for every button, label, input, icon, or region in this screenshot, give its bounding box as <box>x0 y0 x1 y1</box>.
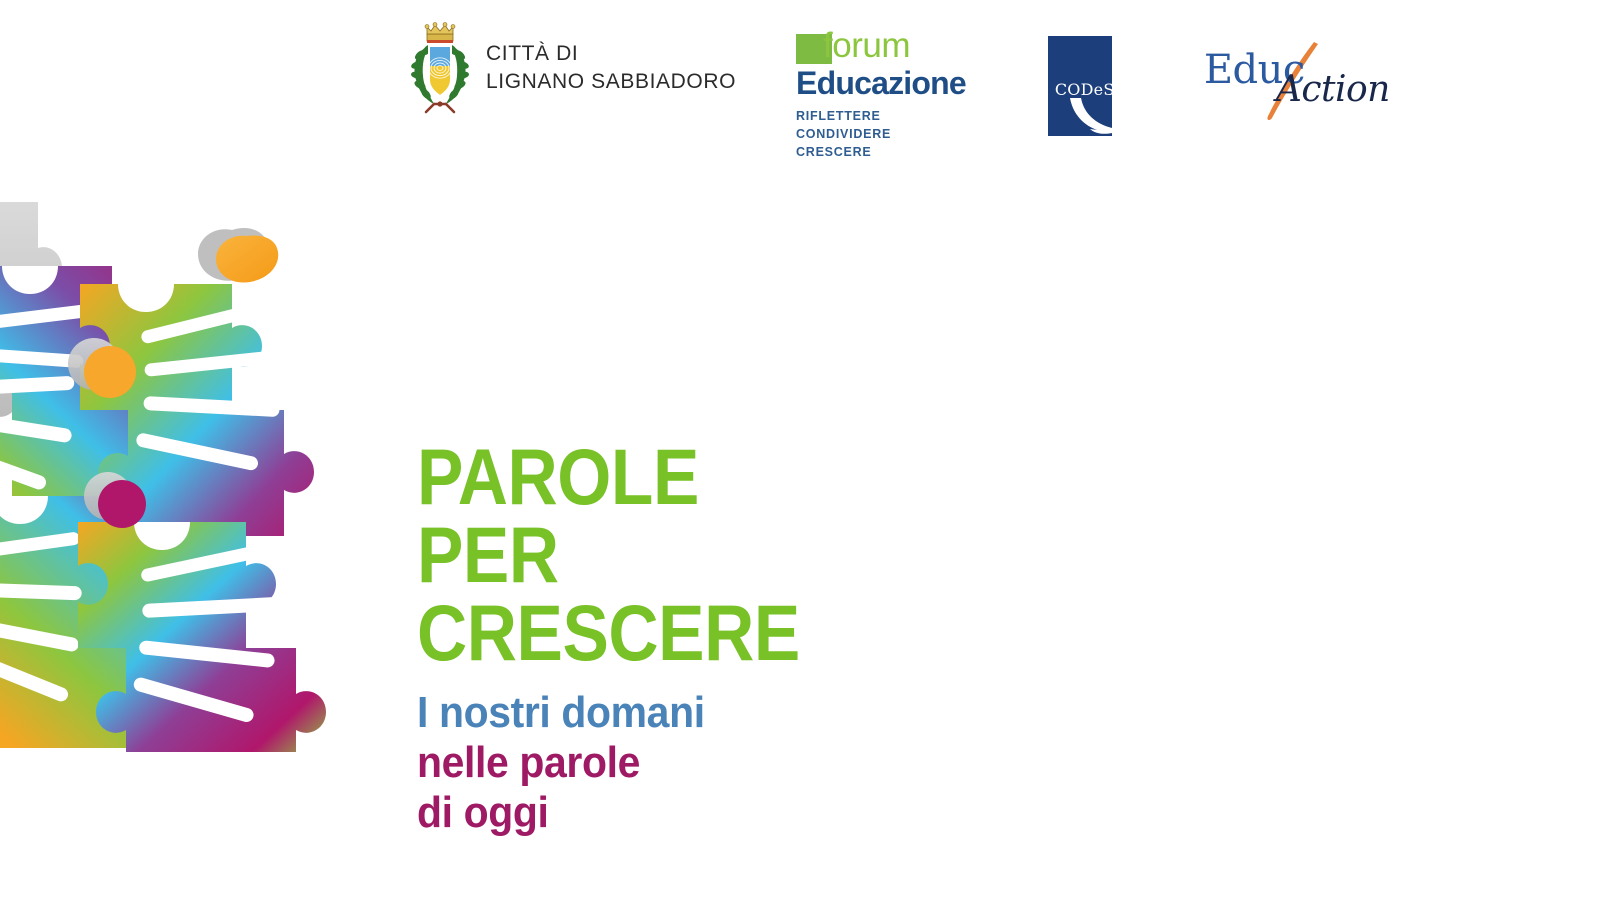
city-logo-text: CITTÀ DI LIGNANO SABBIADORO <box>486 40 736 95</box>
subhead-line-1: I nostri domani <box>417 688 705 738</box>
city-name-line2: LIGNANO SABBIADORO <box>486 68 736 96</box>
educaction-logo: Educ Action <box>1204 44 1310 114</box>
city-name-line1: CITTÀ DI <box>486 40 736 68</box>
forum-tagline: RIFLETTERE CONDIVIDERE CRESCERE <box>796 107 966 161</box>
codess-wordmark: CODeSSfvg <box>1055 80 1112 99</box>
headline-line-2: PER <box>417 516 800 594</box>
subhead-line-2: nelle parole <box>417 738 705 788</box>
partner-logo-strip: CITTÀ DI LIGNANO SABBIADORO forum Educaz… <box>410 22 1310 142</box>
poster-headline: PAROLE PER CRESCERE <box>417 438 852 673</box>
coat-of-arms-icon <box>410 22 470 114</box>
puzzle-piece-bottom-right <box>78 522 326 752</box>
action-word: Action <box>1276 72 1390 108</box>
citta-di-lignano-sabbiadoro-logo: CITTÀ DI LIGNANO SABBIADORO <box>410 22 736 114</box>
codess-word-text: CODeSS <box>1055 80 1112 99</box>
forum-tagline-line3: CRESCERE <box>796 143 966 161</box>
forum-tagline-line2: CONDIVIDERE <box>796 125 966 143</box>
puzzle-people-illustration <box>0 196 460 756</box>
forum-wordmark-row: forum <box>796 32 966 66</box>
puzzle-tab-orange <box>198 228 278 283</box>
subhead-line-3: di oggi <box>417 788 705 838</box>
forum-educazione-logo: forum Educazione RIFLETTERE CONDIVIDERE … <box>796 22 966 161</box>
headline-line-1: PAROLE <box>417 438 800 516</box>
poster-subhead: I nostri domani nelle parole di oggi <box>417 688 726 838</box>
forum-word: forum <box>823 28 910 63</box>
educazione-word: Educazione <box>796 67 966 99</box>
codess-fvg-logo: CODeSSfvg <box>1048 36 1112 136</box>
forum-tagline-line1: RIFLETTERE <box>796 107 966 125</box>
headline-line-3: CRESCERE <box>417 594 800 672</box>
